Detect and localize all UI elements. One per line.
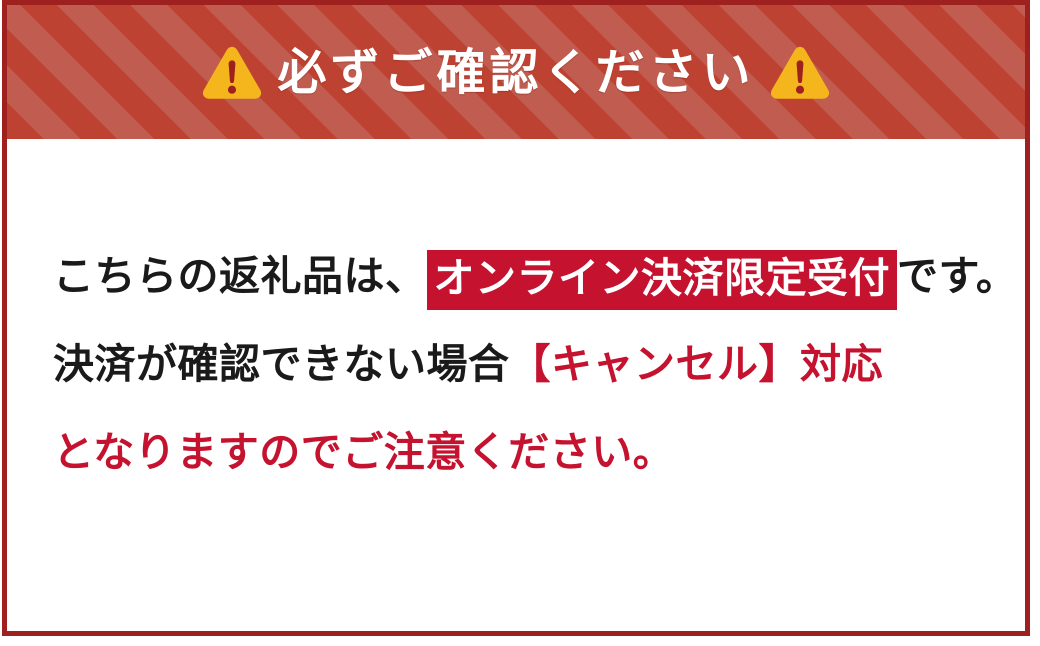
- notice-text-segment: です。: [897, 252, 1017, 300]
- notice-line-3: となりますのでご注意ください。: [53, 408, 1025, 496]
- notice-accent-cancel: 【キャンセル】対応: [510, 340, 884, 388]
- notice-body: こちらの返礼品は、オンライン決済限定受付です。 決済が確認できない場合【キャンセ…: [7, 139, 1025, 631]
- warning-triangle-icon-left: [201, 43, 263, 101]
- header-inner: 必ずご確認ください: [201, 43, 830, 101]
- notice-banner-screen: 必ずご確認ください こちらの返礼品は、オンライン決済限定受付です。 決済が確認で…: [0, 0, 1040, 646]
- notice-line-1: こちらの返礼品は、オンライン決済限定受付です。: [53, 232, 1025, 320]
- notice-text-segment: こちらの返礼品は、: [53, 252, 427, 300]
- notice-line-2: 決済が確認できない場合【キャンセル】対応: [53, 320, 1025, 408]
- notice-text-segment: となりますのでご注意ください。: [53, 428, 674, 476]
- notice-header: 必ずご確認ください: [7, 5, 1025, 139]
- notice-text-segment: 決済が確認できない場合: [53, 340, 510, 388]
- page-title: 必ずご確認ください: [277, 48, 754, 97]
- warning-triangle-icon-right: [769, 43, 831, 101]
- notice-card: 必ずご確認ください こちらの返礼品は、オンライン決済限定受付です。 決済が確認で…: [2, 0, 1030, 636]
- notice-highlight-online-payment: オンライン決済限定受付: [427, 250, 898, 310]
